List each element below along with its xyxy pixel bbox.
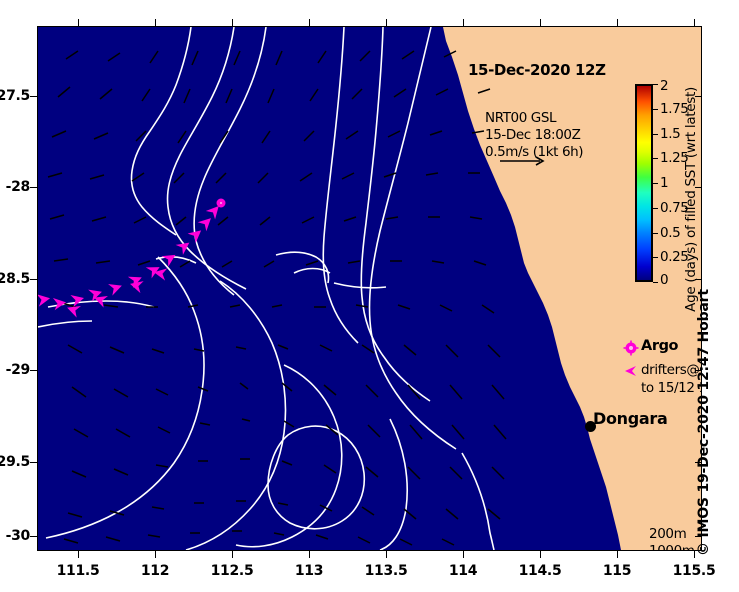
x-tick-label: 113.5	[365, 563, 408, 579]
map-title: 15-Dec-2020 12Z	[468, 61, 606, 79]
x-tick-label: 113	[295, 563, 323, 579]
drifter-track[interactable]	[38, 27, 701, 550]
map-plot-area[interactable]: 15-Dec-2020 12Z NRT00 GSL 15-Dec 18:00Z …	[37, 26, 702, 551]
colorbar-tick-label: 0	[660, 272, 668, 288]
legend-label-drifters-line1: drifters@6h	[641, 362, 702, 378]
colorbar-tick-label: 0.5	[660, 225, 680, 241]
legend-label-drifters-line2: to 15/12 18Z	[641, 380, 702, 396]
colorbar-tick-label: 1	[660, 175, 668, 191]
argo-float-icon	[623, 340, 639, 356]
x-tick-label: 111.5	[57, 563, 100, 579]
credit-text: © IMOS 19-Dec-2020 12:47 Hobart	[696, 289, 712, 556]
x-tick-label: 115.5	[673, 563, 716, 579]
x-tick-label: 112.5	[211, 563, 254, 579]
model-annotation: NRT00 GSL 15-Dec 18:00Z 0.5m/s (1kt 6h)	[485, 110, 583, 161]
y-tick-label: -29.5	[0, 454, 30, 470]
y-tick-label: -30	[6, 528, 30, 544]
city-label: Dongara	[593, 409, 668, 428]
depth-contour-key: 200m 1000m	[649, 526, 695, 551]
depth-label-1000: 1000m	[649, 543, 695, 551]
y-tick-label: -28.5	[0, 271, 30, 287]
y-tick-label: -29	[6, 362, 30, 378]
legend-label-argo: Argo	[641, 338, 678, 354]
x-tick-label: 115	[603, 563, 631, 579]
model-valid-time: 15-Dec 18:00Z	[485, 127, 583, 144]
depth-label-200: 200m	[649, 526, 695, 543]
x-tick-label: 112	[141, 563, 169, 579]
y-tick-label: -27.5	[0, 88, 30, 104]
y-tick-label: -28	[6, 179, 30, 195]
right-arrow-icon	[498, 155, 546, 167]
x-tick-label: 114	[449, 563, 477, 579]
colorbar-tick-label: 1.5	[660, 126, 680, 142]
colorbar: 2 1.75 1.5 1.25 1 0.75 0.5 0.25 0	[635, 84, 653, 282]
map-figure: 15-Dec-2020 12Z NRT00 GSL 15-Dec 18:00Z …	[0, 0, 739, 592]
colorbar-gradient	[635, 84, 653, 282]
colorbar-tick-label: 2	[660, 78, 668, 94]
drifter-chevron-icon	[621, 364, 639, 378]
model-name: NRT00 GSL	[485, 110, 583, 127]
x-tick-label: 114.5	[519, 563, 562, 579]
